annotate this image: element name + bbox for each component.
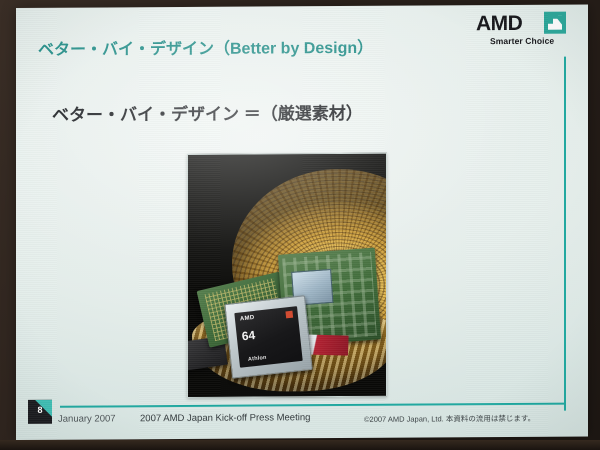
page-number-badge: 8 bbox=[28, 400, 52, 424]
chip-center-label: AMD 64 Athlon bbox=[234, 306, 303, 368]
chip-brand-square-icon bbox=[285, 311, 293, 319]
footer-date: January 2007 bbox=[58, 413, 116, 424]
chip-family-text: Athlon bbox=[247, 356, 266, 364]
chip-brand-text: AMD bbox=[239, 315, 254, 323]
page-number: 8 bbox=[28, 406, 52, 415]
footer-copyright: ©2007 AMD Japan, Ltd. 本資料の流用は禁じます。 bbox=[364, 413, 535, 425]
projected-slide-photo: AMD Smarter Choice ベター・バイ・デザイン（Better by… bbox=[0, 0, 600, 450]
amd-arrow-glyph bbox=[544, 12, 566, 34]
basket-of-amd-processors-photo: AMD 64 Athlon bbox=[187, 153, 387, 398]
foreground-shelf bbox=[0, 440, 600, 450]
slide-body-line: ベター・バイ・デザイン ＝（厳選素材） bbox=[52, 99, 363, 126]
chip-center-athlon64: AMD 64 Athlon bbox=[224, 295, 313, 378]
presentation-slide: AMD Smarter Choice ベター・バイ・デザイン（Better by… bbox=[16, 5, 588, 440]
amd-tagline: Smarter Choice bbox=[490, 36, 554, 46]
vertical-rule bbox=[564, 57, 566, 411]
amd-arrow-icon bbox=[544, 12, 566, 34]
amd-wordmark: AMD bbox=[476, 13, 522, 34]
slide-title: ベター・バイ・デザイン（Better by Design） bbox=[38, 34, 373, 60]
chip-model-text: 64 bbox=[241, 330, 256, 343]
footer-meeting-title: 2007 AMD Japan Kick-off Press Meeting bbox=[140, 412, 310, 424]
amd-logo: AMD Smarter Choice bbox=[476, 11, 572, 54]
horizontal-rule bbox=[60, 403, 566, 408]
